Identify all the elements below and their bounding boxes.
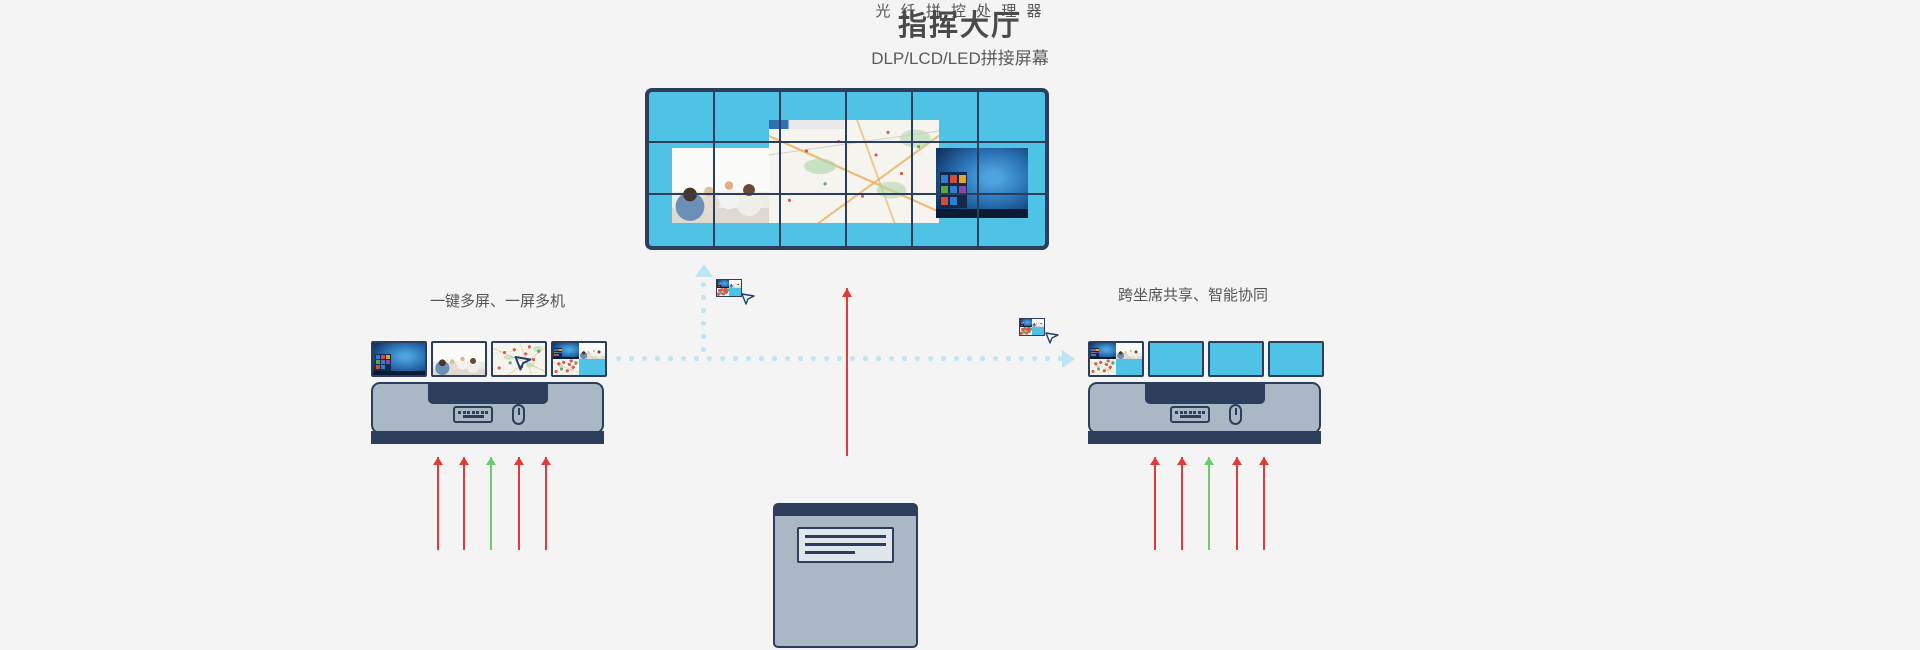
left-monitor-1[interactable] [371,341,427,377]
left-desk-base [381,431,594,444]
page-title: 指挥大厅 [0,2,1920,44]
wall-tile[interactable] [979,92,1045,143]
wall-window-windows-desktop[interactable] [936,148,1028,218]
signal-arrow-left-2 [463,457,465,550]
left-desk-hump [428,382,548,404]
left-station-label: 一键多屏、一屏多机 [430,290,565,311]
wall-window-people[interactable] [672,148,772,223]
right-desk-base [1098,431,1311,444]
right-desk [1088,382,1321,434]
cursor-arrow-right-icon [1044,329,1060,345]
signal-arrow-right-2 [1181,457,1183,550]
shared-screen-thumbnail-left[interactable] [716,279,742,297]
signal-arrow-right-3 [1208,457,1210,550]
fiber-splicing-processor[interactable] [773,503,918,648]
diagram-canvas: 指挥大厅 DLP/LCD/LED拼接屏幕 [0,0,1920,650]
signal-arrow-right-5 [1263,457,1265,550]
right-desk-hump [1145,382,1265,404]
cursor-arrow-left-icon [740,290,756,306]
processor-top-bar [775,505,916,516]
signal-arrow-right-1 [1154,457,1156,550]
signal-arrow-left-1 [437,457,439,550]
right-station-label: 跨坐席共享、智能协同 [1118,284,1268,305]
page-subtitle: DLP/LCD/LED拼接屏幕 [0,44,1920,69]
left-desk [371,382,604,434]
keyboard-icon[interactable] [1170,406,1210,423]
signal-arrow-left-5 [545,457,547,550]
people-image [672,148,772,223]
flow-arrowhead-right [1062,350,1075,368]
right-monitor-row [1088,341,1324,377]
flow-arrowhead-up [695,264,713,277]
cursor-arrow-monitor-icon [513,352,533,372]
signal-arrow-right-4 [1236,457,1238,550]
left-monitor-2[interactable] [431,341,487,377]
flow-line-up [701,278,706,358]
wall-tile[interactable] [649,92,715,143]
right-monitor-2[interactable] [1148,341,1204,377]
start-menu-tiles [940,172,968,208]
right-monitor-1[interactable] [1088,341,1144,377]
signal-arrow-center [846,288,848,456]
map-image [769,120,939,223]
left-monitor-4[interactable] [551,341,607,377]
keyboard-icon[interactable] [453,406,493,423]
mouse-icon[interactable] [512,404,525,425]
processor-display [797,527,894,563]
mouse-icon[interactable] [1229,404,1242,425]
left-monitor-3[interactable] [491,341,547,377]
taskbar [936,209,1028,218]
signal-arrow-left-4 [518,457,520,550]
map-toolbar [769,120,844,129]
left-monitor-row [371,341,607,377]
shared-screen-thumbnail-right[interactable] [1019,318,1045,336]
wall-window-map[interactable] [769,120,939,223]
signal-arrow-left-3 [490,457,492,550]
video-wall[interactable] [645,88,1049,250]
right-monitor-4[interactable] [1268,341,1324,377]
windows-desktop-image [936,148,1028,218]
flow-line-horizontal [612,356,1064,361]
right-monitor-3[interactable] [1208,341,1264,377]
